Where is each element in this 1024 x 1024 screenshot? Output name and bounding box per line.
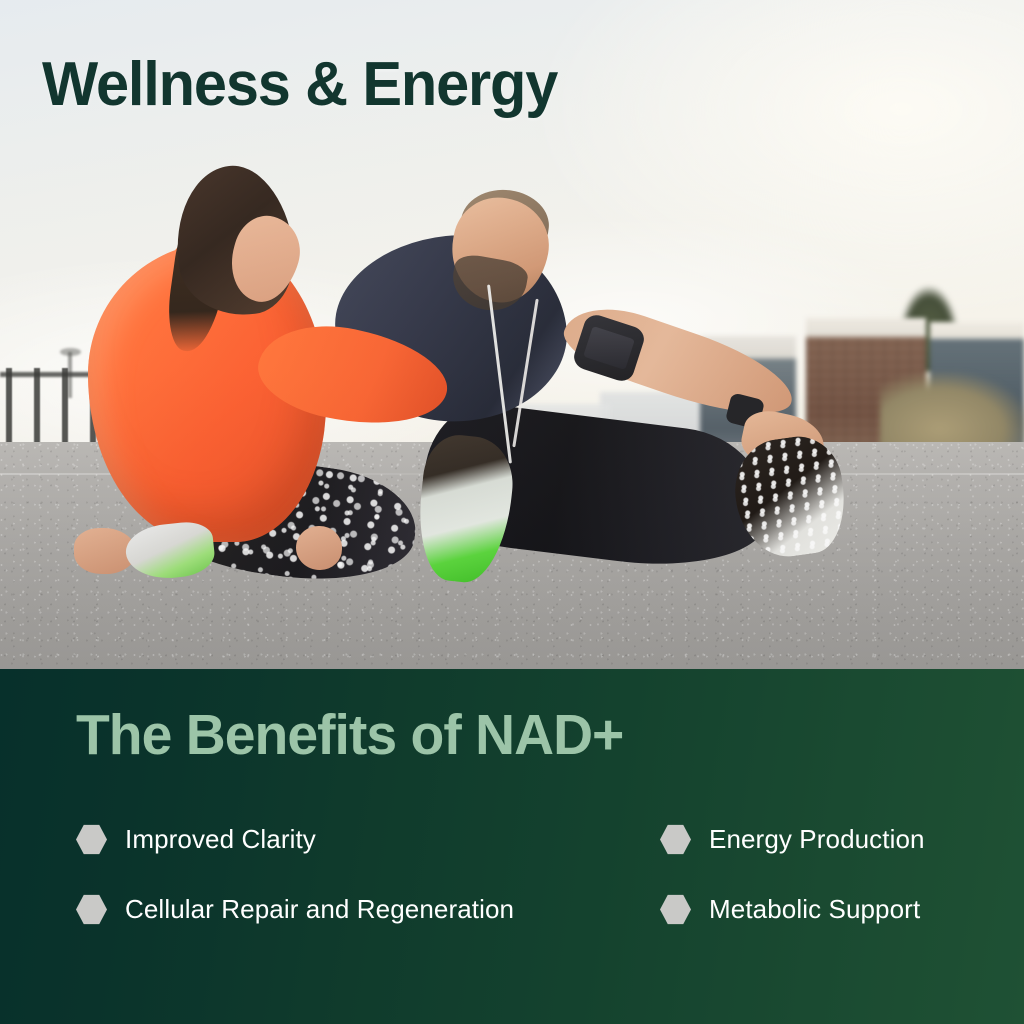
page-title: Wellness & Energy	[42, 52, 557, 117]
benefit-label: Metabolic Support	[709, 894, 920, 925]
benefit-item-metabolic-support: Metabolic Support	[660, 894, 976, 925]
hexagon-bullet-icon	[660, 824, 691, 855]
benefit-label: Energy Production	[709, 824, 925, 855]
hexagon-bullet-icon	[76, 824, 107, 855]
wellness-poster: Wellness & Energy The Benefits of NAD+ I…	[0, 0, 1024, 1024]
benefit-item-cellular-repair: Cellular Repair and Regeneration	[76, 894, 660, 925]
benefits-list: Improved Clarity Energy Production Cellu…	[76, 824, 976, 964]
benefit-label: Improved Clarity	[125, 824, 316, 855]
woman-hand-right	[296, 526, 342, 570]
benefit-label: Cellular Repair and Regeneration	[125, 894, 514, 925]
hexagon-bullet-icon	[660, 894, 691, 925]
hexagon-bullet-icon	[76, 894, 107, 925]
benefits-heading: The Benefits of NAD+	[76, 706, 623, 766]
benefit-item-energy-production: Energy Production	[660, 824, 976, 855]
benefit-item-improved-clarity: Improved Clarity	[76, 824, 660, 855]
